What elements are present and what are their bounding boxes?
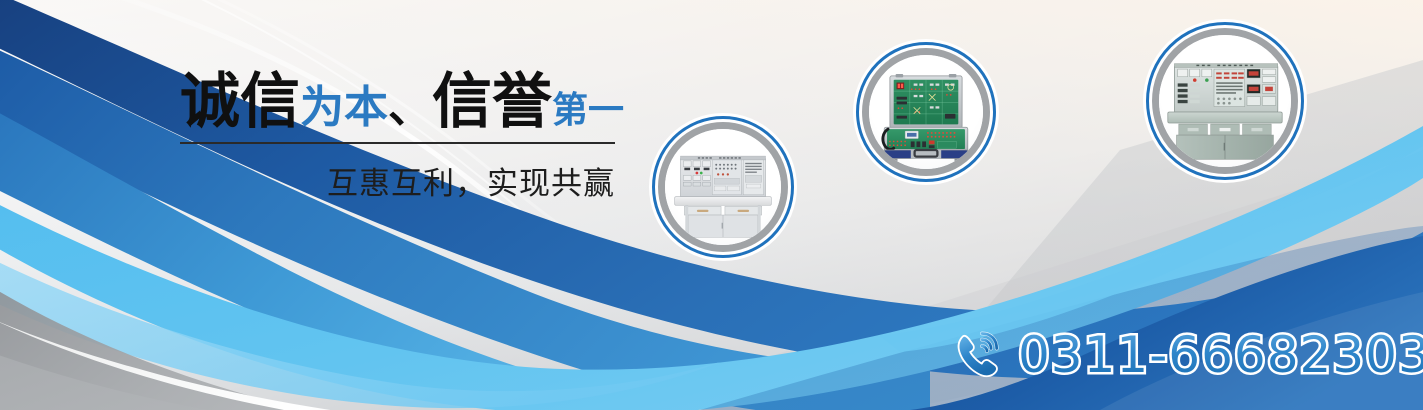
headline-part-1: 诚信 bbox=[180, 68, 300, 135]
contact-block[interactable]: 0311-66682303 0311-66682303 bbox=[952, 326, 1423, 384]
headline-part-4: 信誉 bbox=[432, 68, 552, 135]
headline-divider bbox=[180, 142, 615, 144]
promo-banner: 诚信为本、信誉第一 互惠互利，实现共赢 bbox=[0, 0, 1423, 410]
phone-call-icon bbox=[952, 329, 1004, 381]
training-case-illustration bbox=[869, 55, 983, 169]
phone-number-wrap: 0311-66682303 0311-66682303 bbox=[1018, 326, 1423, 384]
workbench-illustration-1 bbox=[665, 129, 781, 245]
product-circle-3[interactable] bbox=[1146, 22, 1304, 180]
subheadline: 互惠互利，实现共赢 bbox=[180, 158, 615, 203]
headline-block: 诚信为本、信誉第一 互惠互利，实现共赢 bbox=[180, 72, 620, 203]
workbench-illustration-2 bbox=[1159, 35, 1291, 167]
headline-part-2: 为本 bbox=[300, 83, 388, 132]
product-image-1 bbox=[665, 129, 781, 245]
product-circle-2[interactable] bbox=[856, 42, 996, 182]
phone-number[interactable]: 0311-66682303 bbox=[1018, 326, 1423, 384]
headline-part-5: 第一 bbox=[552, 89, 624, 130]
product-image-2 bbox=[869, 55, 983, 169]
headline: 诚信为本、信誉第一 bbox=[180, 72, 620, 132]
product-circle-1[interactable] bbox=[652, 116, 794, 258]
product-image-3 bbox=[1159, 35, 1291, 167]
headline-part-3: 、 bbox=[388, 83, 432, 132]
